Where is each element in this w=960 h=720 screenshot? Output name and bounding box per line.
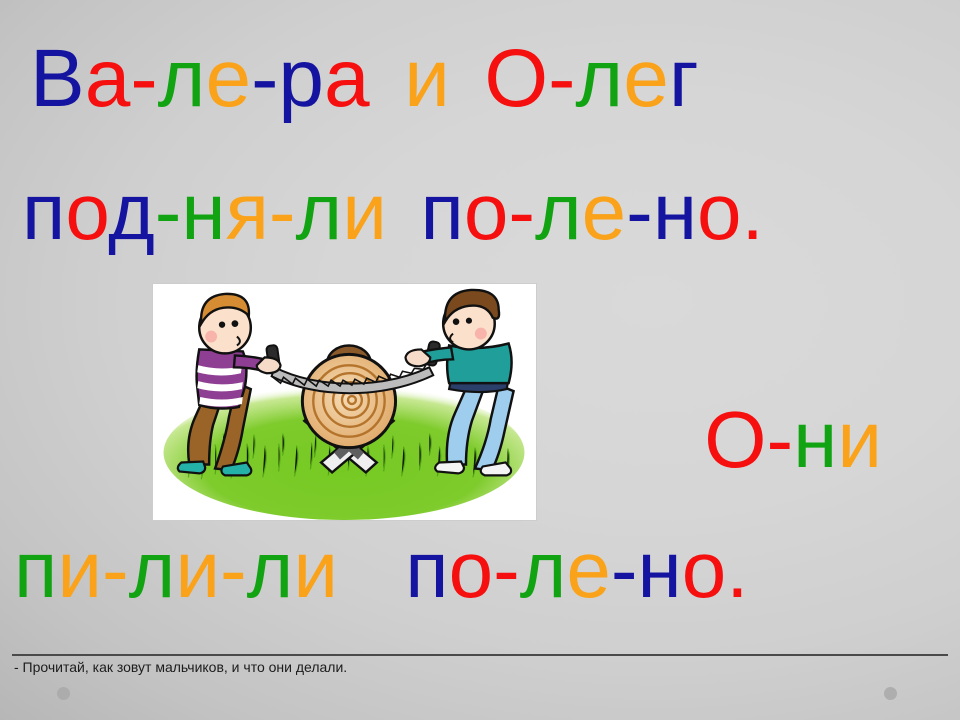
letter: е [623,33,669,124]
hyphen: - [626,167,653,256]
letter: п [14,525,57,614]
right-boy-shirt [447,343,511,383]
letter: о [449,525,494,614]
letter: л [296,167,343,256]
letter: г [669,33,699,124]
text-line-4: пи-ли-липо-ле-но. [14,530,748,610]
letter: о [464,167,509,256]
letter: о [65,167,108,256]
left-boy-shirt-stripes [197,365,243,406]
left-boy-shoe-1 [178,461,205,473]
period: . [726,525,748,614]
period: . [742,167,764,256]
letter: о [697,167,742,256]
letter: я [226,167,269,256]
letter: е [582,167,627,256]
hyphen: - [220,525,247,614]
letter: и [175,525,220,614]
letter: л [129,525,176,614]
letter: е [566,525,611,614]
letter: н [793,395,837,484]
right-boy-shoe-1 [435,461,464,473]
letter: а [85,33,131,124]
hyphen: - [548,33,575,124]
letter: л [535,167,582,256]
letter: л [158,33,206,124]
hyphen: - [493,525,520,614]
hyphen: - [130,33,157,124]
text-line-2: под-ня-липо-ле-но. [22,172,764,252]
hyphen: - [102,525,129,614]
hyphen: - [611,525,638,614]
letter: и [57,525,102,614]
letter: д [108,167,155,256]
text-line-1: Ва-ле-раиО-лег [30,38,699,120]
letter: п [22,167,65,256]
letter: а [324,33,370,124]
footer-caption: - Прочитай, как зовут мальчиков, и что о… [14,659,347,675]
letter: л [575,33,623,124]
letter: и [342,167,387,256]
decorative-dot-left [57,687,70,700]
text-line-3: О-ни [704,400,882,480]
letter: п [405,525,448,614]
letter: О [484,33,548,124]
letter: и [837,395,882,484]
illustration-boys-sawing-log [152,283,537,521]
letter: п [421,167,464,256]
letter: и [404,33,450,124]
letter: н [638,525,682,614]
hyphen: - [508,167,535,256]
letter: л [247,525,294,614]
slide-canvas: Ва-ле-раиО-лег под-ня-липо-ле-но. [0,0,960,720]
letter: е [205,33,251,124]
hyphen: - [155,167,182,256]
letter: о [682,525,727,614]
letter: и [293,525,338,614]
footer-divider [12,654,948,656]
decorative-dot-right [884,687,897,700]
letter: О [704,395,766,484]
letter: н [653,167,697,256]
hyphen: - [251,33,278,124]
letter: В [30,33,85,124]
hyphen: - [766,395,793,484]
hyphen: - [269,167,296,256]
illustration-svg [153,284,536,520]
letter: н [181,167,225,256]
letter: л [520,525,567,614]
letter: р [278,33,324,124]
